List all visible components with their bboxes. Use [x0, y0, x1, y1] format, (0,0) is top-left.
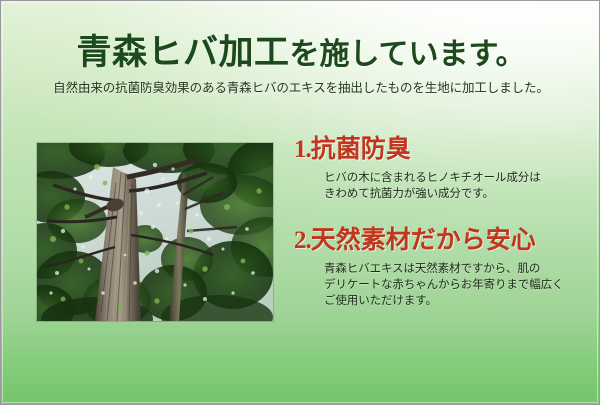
- page-title-tail: を施しています。: [289, 38, 525, 71]
- banner-header: 青森ヒバ加工を施しています。 自然由来の抗菌防臭効果のある青森ヒバのエキスを抽出…: [1, 1, 600, 96]
- feature-point-2-label: 天然素材だから安心: [311, 227, 536, 254]
- page-title: 青森ヒバ加工を施しています。: [1, 1, 600, 71]
- hiba-forest-photo: [37, 143, 273, 321]
- forest-photo-illustration: [37, 143, 273, 321]
- feature-point-1-label: 抗菌防臭: [311, 136, 411, 163]
- feature-point-2: 2.天然素材だから安心 青森ヒバエキスは天然素材ですから、肌の デリケートな赤ち…: [294, 226, 594, 309]
- feature-point-1-body: ヒバの木に含まれるヒノキチオール成分は きわめて抗菌力が強い成分です。: [324, 170, 594, 203]
- feature-point-2-body: 青森ヒバエキスは天然素材ですから、肌の デリケートな赤ちゃんからお年寄りまで幅広…: [324, 261, 594, 310]
- feature-point-1: 1.抗菌防臭 ヒバの木に含まれるヒノキチオール成分は きわめて抗菌力が強い成分で…: [294, 135, 594, 202]
- page-subtitle: 自然由来の抗菌防臭効果のある青森ヒバのエキスを抽出したものを生地に加工しました。: [1, 71, 600, 96]
- page-title-main: 青森ヒバ加工: [76, 33, 289, 72]
- feature-points-list: 1.抗菌防臭 ヒバの木に含まれるヒノキチオール成分は きわめて抗菌力が強い成分で…: [294, 135, 594, 314]
- feature-point-1-title: 1.抗菌防臭: [294, 135, 594, 165]
- feature-point-1-number: 1.: [294, 136, 311, 163]
- feature-point-2-title: 2.天然素材だから安心: [294, 226, 594, 256]
- feature-point-2-number: 2.: [294, 227, 311, 254]
- hiba-promo-banner: 青森ヒバ加工を施しています。 自然由来の抗菌防臭効果のある青森ヒバのエキスを抽出…: [0, 0, 600, 405]
